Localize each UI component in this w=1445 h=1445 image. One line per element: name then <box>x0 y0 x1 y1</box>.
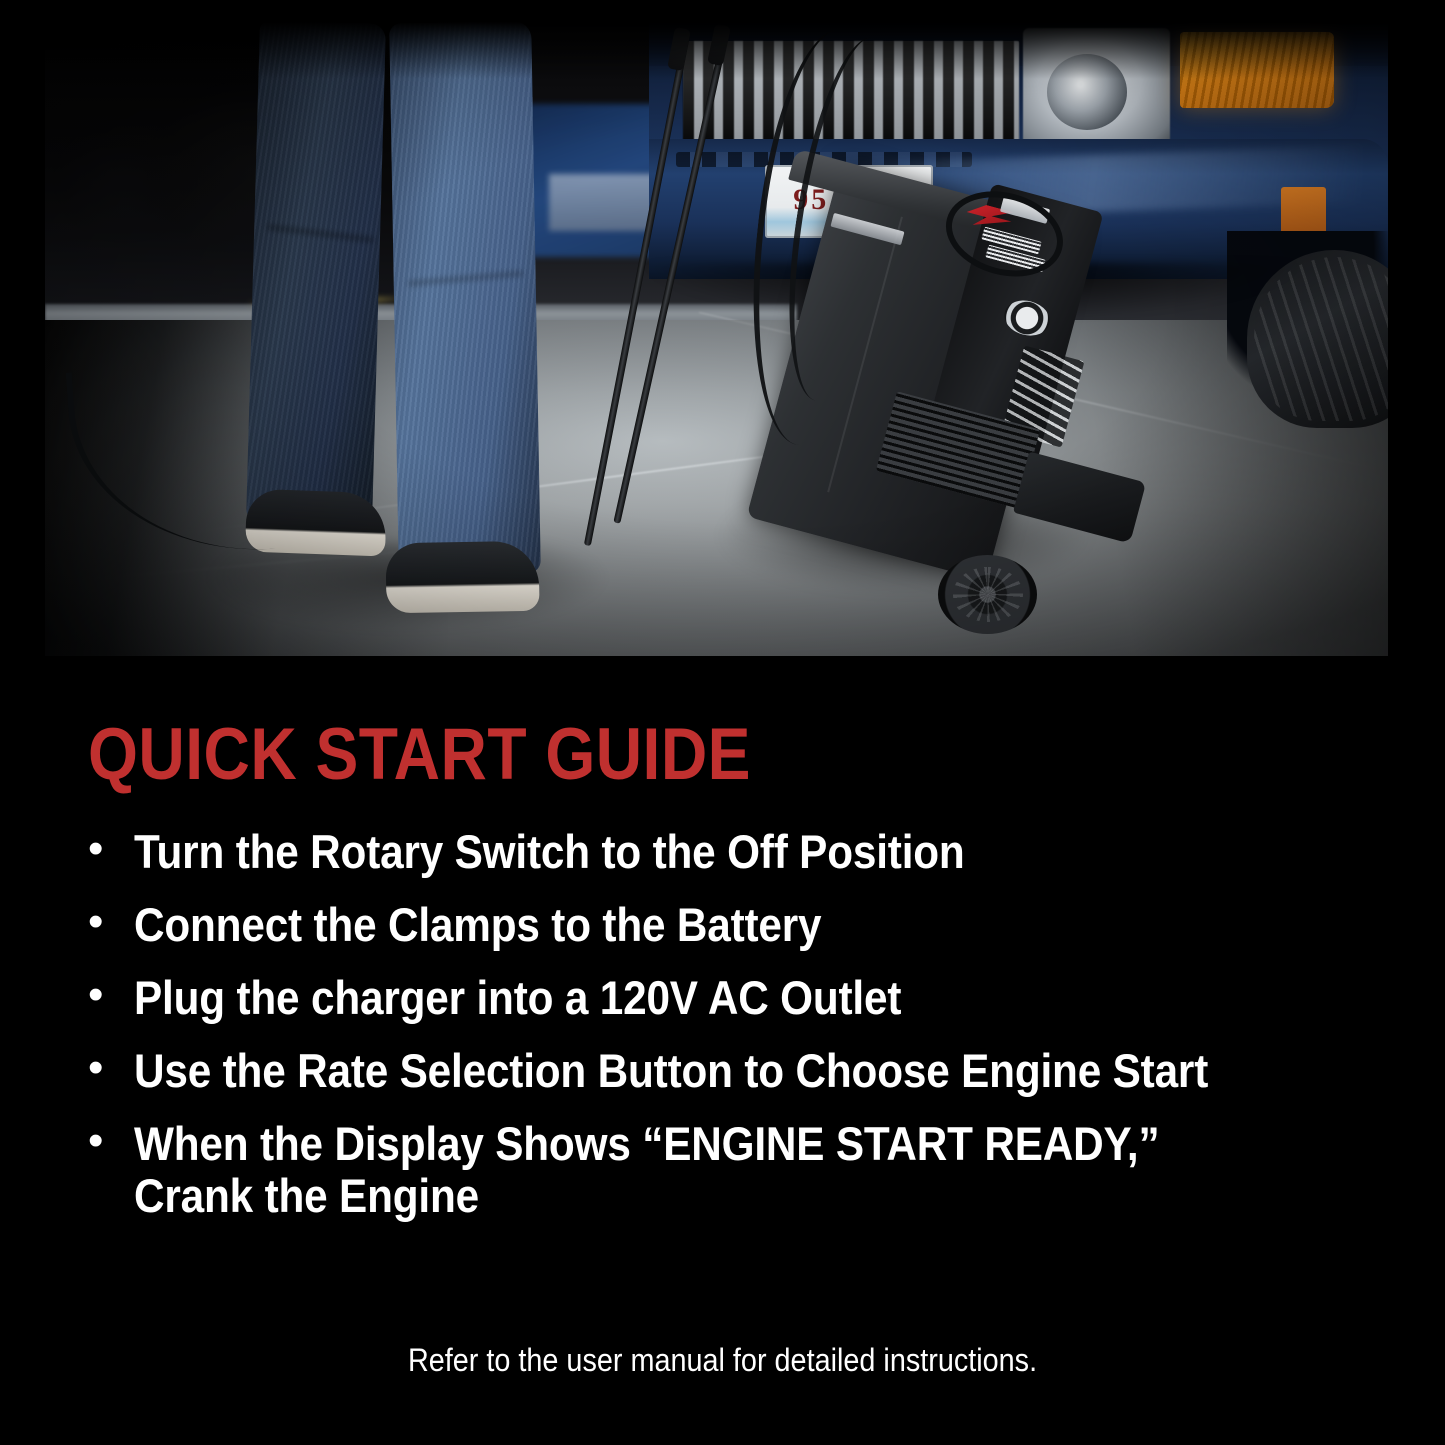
hero-photo: 95 8 37 <box>45 22 1388 656</box>
step-line-wrapped: Crank the Engine <box>134 1170 1159 1222</box>
quick-start-guide-page: 95 8 37 <box>0 0 1445 1445</box>
list-item: • Use the Rate Selection Button to Choos… <box>88 1045 1388 1097</box>
step-text: Turn the Rotary Switch to the Off Positi… <box>134 826 965 878</box>
list-item: • Plug the charger into a 120V AC Outlet <box>88 972 1388 1024</box>
bullet-marker-icon: • <box>88 972 134 1018</box>
step-line: Plug the charger into a 120V AC Outlet <box>134 971 901 1024</box>
bullet-marker-icon: • <box>88 899 134 945</box>
footer-note: Refer to the user manual for detailed in… <box>0 1342 1445 1379</box>
step-text: Plug the charger into a 120V AC Outlet <box>134 972 901 1024</box>
step-text: Connect the Clamps to the Battery <box>134 899 821 951</box>
step-line: Turn the Rotary Switch to the Off Positi… <box>134 825 965 878</box>
step-line: When the Display Shows “ENGINE START REA… <box>134 1117 1159 1170</box>
step-text: Use the Rate Selection Button to Choose … <box>134 1045 1208 1097</box>
photo-vignette <box>45 22 1388 656</box>
quick-start-steps-list: • Turn the Rotary Switch to the Off Posi… <box>88 826 1388 1243</box>
step-line: Use the Rate Selection Button to Choose … <box>134 1044 1208 1097</box>
photo-top-fade <box>45 22 1388 79</box>
bullet-marker-icon: • <box>88 826 134 872</box>
bullet-marker-icon: • <box>88 1045 134 1091</box>
footer-note-text: Refer to the user manual for detailed in… <box>408 1342 1037 1379</box>
bullet-marker-icon: • <box>88 1118 134 1164</box>
list-item: • Turn the Rotary Switch to the Off Posi… <box>88 826 1388 878</box>
step-text: When the Display Shows “ENGINE START REA… <box>134 1118 1159 1222</box>
list-item: • When the Display Shows “ENGINE START R… <box>88 1118 1388 1222</box>
page-title: QUICK START GUIDE <box>88 718 751 791</box>
step-line: Connect the Clamps to the Battery <box>134 898 821 951</box>
list-item: • Connect the Clamps to the Battery <box>88 899 1388 951</box>
